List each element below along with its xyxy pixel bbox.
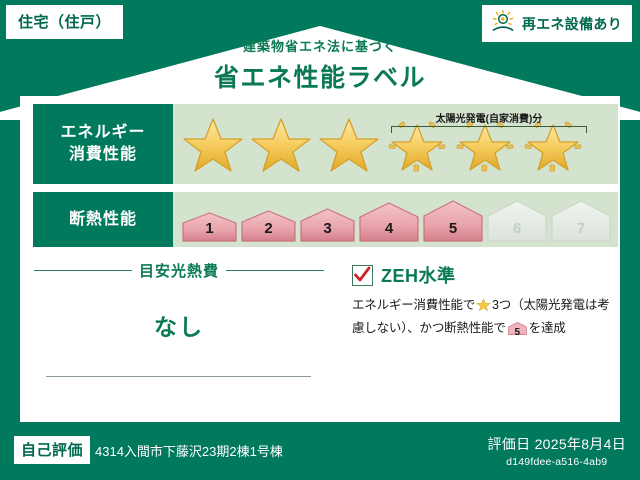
zeh-title: ZEH水準	[381, 262, 456, 288]
zeh-panel: ZEH水準 エネルギー消費性能で3つ（太陽光発電は考慮しない）、かつ断熱性能で5…	[352, 262, 610, 343]
insulation-grade-7: 7	[550, 199, 612, 243]
zeh-header: ZEH水準	[352, 262, 610, 288]
evaluation-meta: 評価日 2025年8月4日 d149fdee-a516-4ab9	[487, 434, 626, 468]
utility-cost-value: なし	[34, 308, 324, 342]
utility-cost-header: 目安光熱費	[34, 256, 324, 281]
grade-number: 3	[299, 220, 356, 237]
insulation-performance-row: 断熱性能	[33, 192, 618, 247]
evaluation-date: 評価日 2025年8月4日	[487, 434, 626, 454]
insulation-grade-6: 6	[486, 199, 548, 243]
insulation-grade-scale: 1 2 3	[181, 199, 612, 243]
grade-number: 1	[181, 220, 238, 237]
chip-number: 5	[508, 325, 527, 341]
solar-bracket-annotation: 太陽光発電(自家消費)分	[391, 110, 587, 133]
insulation-chip-icon: 5	[508, 321, 527, 342]
solar-sun-icon	[490, 9, 516, 38]
label-card: エネルギー 消費性能	[20, 96, 620, 422]
insulation-grade-3: 3	[299, 207, 356, 243]
housing-type-tag: 住宅（住戸）	[6, 5, 123, 39]
zeh-desc-part3: を達成	[529, 321, 566, 335]
grade-number: 6	[486, 220, 548, 237]
zeh-checkbox	[352, 265, 373, 286]
insulation-label: 断熱性能	[69, 209, 137, 231]
property-address: 4314入間市下藤沢23期2棟1号棟	[95, 441, 283, 460]
renewable-equipment-badge: 再エネ設備あり	[482, 5, 632, 42]
solar-bracket-line	[391, 126, 587, 133]
utility-cost-panel: 目安光熱費 なし	[34, 256, 324, 342]
utility-cost-title: 目安光熱費	[139, 260, 219, 281]
insulation-grade-1: 1	[181, 211, 238, 243]
grade-number: 7	[550, 220, 612, 237]
grade-number: 4	[358, 220, 420, 237]
star-plain	[181, 113, 245, 175]
gold-star-icon	[476, 297, 491, 318]
rule-left	[34, 270, 132, 271]
star-plain	[317, 113, 381, 175]
solar-bracket-label: 太陽光発電(自家消費)分	[391, 110, 587, 125]
energy-performance-label-box: エネルギー 消費性能	[33, 104, 173, 184]
energy-performance-body: 太陽光発電(自家消費)分	[173, 104, 618, 184]
insulation-grade-4: 4	[358, 201, 420, 243]
zeh-description: エネルギー消費性能で3つ（太陽光発電は考慮しない）、かつ断熱性能で5を達成	[352, 295, 610, 343]
self-evaluation-badge: 自己評価	[14, 436, 90, 464]
grade-number: 5	[422, 220, 484, 237]
evaluation-id: d149fdee-a516-4ab9	[487, 456, 626, 468]
insulation-performance-body: 1 2 3	[173, 192, 618, 247]
energy-label-line2: 消費性能	[69, 144, 137, 166]
title-block: 建築物省エネ法に基づく 省エネ性能ラベル	[0, 36, 640, 94]
evaluation-date-label: 評価日	[487, 436, 530, 452]
star-plain	[249, 113, 313, 175]
evaluation-date-value: 2025年8月4日	[535, 436, 626, 452]
page-title: 省エネ性能ラベル	[0, 58, 640, 94]
energy-performance-label: 住宅（住戸） 再エネ設備あり 建築物省エネ法に基づく	[0, 0, 640, 480]
insulation-grade-5: 5	[422, 199, 484, 243]
zeh-desc-part1: エネルギー消費性能で	[352, 298, 475, 312]
utility-cost-underline	[46, 376, 311, 377]
insulation-performance-label-box: 断熱性能	[33, 192, 173, 247]
footer: 自己評価 4314入間市下藤沢23期2棟1号棟 評価日 2025年8月4日 d1…	[0, 428, 640, 480]
renewable-badge-label: 再エネ設備あり	[522, 14, 622, 34]
rule-right	[226, 270, 324, 271]
self-evaluation-block: 自己評価 4314入間市下藤沢23期2棟1号棟	[14, 436, 283, 464]
energy-label-line1: エネルギー	[60, 122, 145, 144]
lower-section: 目安光熱費 なし ZEH水準 エネルギー消費性能で3つ（太陽光発電は考慮しない）…	[20, 256, 620, 422]
grade-number: 2	[240, 220, 297, 237]
energy-performance-row: エネルギー 消費性能	[33, 104, 618, 184]
insulation-grade-2: 2	[240, 209, 297, 243]
